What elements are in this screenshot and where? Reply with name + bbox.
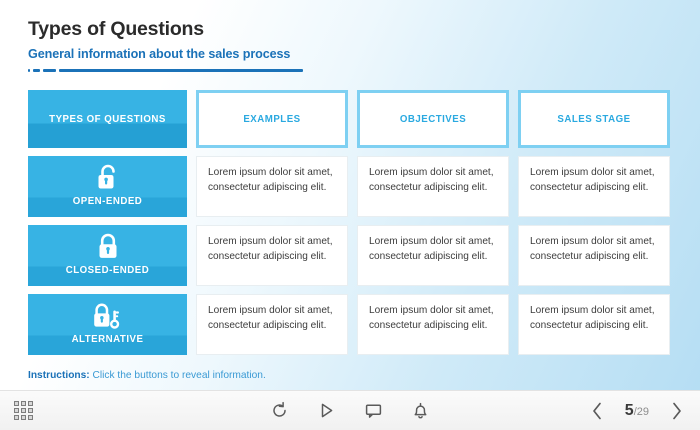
cell-sales-stage: Lorem ipsum dolor sit amet, consectetur … [518, 225, 670, 286]
page-indicator: 5/29 [625, 402, 649, 420]
cell-objectives: Lorem ipsum dolor sit amet, consectetur … [357, 225, 509, 286]
table-row: OPEN-ENDED Lorem ipsum dolor sit amet, c… [28, 156, 672, 217]
chevron-right-icon[interactable] [669, 401, 684, 421]
table-row: CLOSED-ENDED Lorem ipsum dolor sit amet,… [28, 225, 672, 286]
column-header-examples: EXAMPLES [196, 90, 348, 148]
chevron-left-icon[interactable] [590, 401, 605, 421]
questions-table: TYPES OF QUESTIONS EXAMPLES OBJECTIVES S… [28, 90, 672, 355]
title-divider [28, 68, 700, 72]
toolbar-right-group: 5/29 [590, 401, 684, 421]
play-icon[interactable] [317, 401, 336, 420]
padlock-open-icon [96, 162, 120, 192]
replay-icon[interactable] [270, 401, 289, 420]
slide: Types of Questions General information a… [0, 0, 700, 430]
player-toolbar: 5/29 [0, 390, 700, 430]
total-pages: /29 [634, 406, 649, 418]
comment-icon[interactable] [364, 401, 383, 420]
cell-examples: Lorem ipsum dolor sit amet, consectetur … [196, 294, 348, 355]
slide-header: Types of Questions General information a… [0, 0, 700, 72]
column-header-objectives: OBJECTIVES [357, 90, 509, 148]
padlock-key-icon [92, 300, 123, 330]
page-subtitle: General information about the sales proc… [28, 47, 700, 61]
cell-sales-stage: Lorem ipsum dolor sit amet, consectetur … [518, 156, 670, 217]
reveal-button-alternative[interactable]: ALTERNATIVE [28, 294, 187, 355]
column-header-types-of-questions: TYPES OF QUESTIONS [28, 90, 187, 148]
cell-objectives: Lorem ipsum dolor sit amet, consectetur … [357, 156, 509, 217]
column-header-label: EXAMPLES [243, 114, 300, 125]
column-header-sales-stage: SALES STAGE [518, 90, 670, 148]
reveal-button-label: OPEN-ENDED [73, 196, 143, 207]
padlock-closed-icon [96, 231, 120, 261]
table-header-row: TYPES OF QUESTIONS EXAMPLES OBJECTIVES S… [28, 90, 672, 148]
reveal-button-label: CLOSED-ENDED [66, 265, 150, 276]
current-page: 5 [625, 402, 634, 420]
cell-objectives: Lorem ipsum dolor sit amet, consectetur … [357, 294, 509, 355]
column-header-label: OBJECTIVES [400, 114, 466, 125]
table-row: ALTERNATIVE Lorem ipsum dolor sit amet, … [28, 294, 672, 355]
reveal-button-closed-ended[interactable]: CLOSED-ENDED [28, 225, 187, 286]
bell-icon[interactable] [411, 401, 430, 420]
cell-examples: Lorem ipsum dolor sit amet, consectetur … [196, 156, 348, 217]
instructions-text: Instructions: Click the buttons to revea… [28, 370, 266, 381]
cell-sales-stage: Lorem ipsum dolor sit amet, consectetur … [518, 294, 670, 355]
reveal-button-label: ALTERNATIVE [72, 334, 144, 345]
page-title: Types of Questions [28, 18, 700, 41]
column-header-label: SALES STAGE [557, 114, 630, 125]
instructions-label: Instructions: [28, 370, 90, 381]
reveal-button-open-ended[interactable]: OPEN-ENDED [28, 156, 187, 217]
cell-examples: Lorem ipsum dolor sit amet, consectetur … [196, 225, 348, 286]
instructions-body: Click the buttons to reveal information. [90, 370, 266, 381]
column-header-label: TYPES OF QUESTIONS [49, 114, 166, 125]
